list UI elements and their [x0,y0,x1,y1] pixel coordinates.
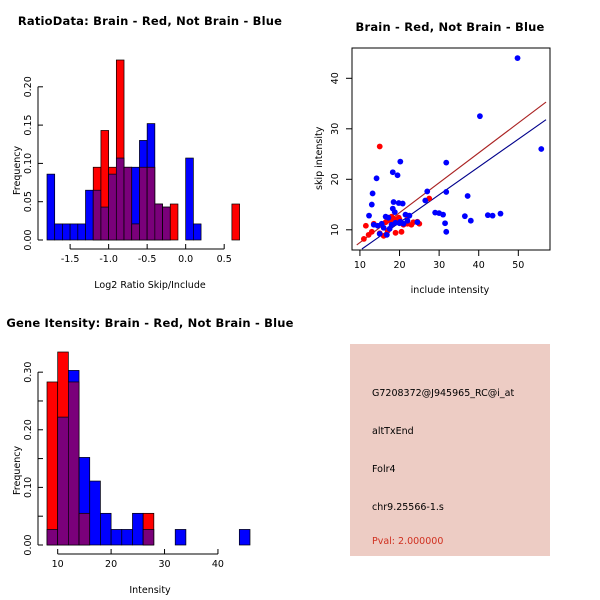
scatter-point [381,225,387,231]
scatter-point [374,175,380,181]
scatter-point [377,144,383,150]
gene-y-tick-label: 0.30 [23,362,34,383]
ratio-bar [78,224,86,240]
gene-x-tick-label: 20 [105,559,117,570]
gene-bar [239,529,250,545]
scatter-point [424,189,430,195]
gene-id-text: G7208372@J945965_RC@i_at [372,388,514,399]
scatter-point [370,191,376,197]
gene-x-tick-label: 40 [212,559,224,570]
locus-text: chr9.25566-1.s [372,502,444,513]
scatter-plot-box [352,48,550,250]
scatter-point [443,229,449,235]
scatter-point [384,232,390,238]
ratio-x-tick-label: 0.5 [217,254,232,265]
scatter-point [442,220,448,226]
scatter-point [386,215,392,221]
scatter-point [422,198,428,204]
gene-x-tick-label: 10 [52,559,64,570]
scatter-point [405,218,411,224]
scatter-y-tick-label: 20 [330,173,341,185]
gene-symbol-text: Folr4 [372,464,396,475]
gene-histogram-xlabel: Intensity [0,585,300,596]
ratio-histogram-canvas: 0.000.050.100.150.20-1.5-1.0-0.50.00.5 [0,0,300,300]
scatter-point [400,201,406,207]
gene-bar [175,529,186,545]
gene-x-tick-label: 30 [158,559,170,570]
ratio-bar [170,204,178,240]
scatter-point [468,218,474,224]
ratio-bar-overlap [109,174,117,240]
scatter-x-tick-label: 20 [393,260,405,271]
scatter-point [407,213,413,219]
ratio-bar [232,204,240,240]
scatter-point [538,146,544,152]
scatter-y-tick-label: 30 [330,123,341,135]
scatter-y-tick-label: 40 [330,72,341,84]
ratio-bar-overlap [155,204,163,240]
scatter-point [392,209,398,215]
gene-y-tick-label: 0.10 [23,477,34,498]
ratio-y-tick-label: 0.05 [23,191,34,212]
ratio-bar-overlap [93,190,101,240]
scatter-canvas: 102030401020304050 [300,0,600,300]
ratio-bar [55,224,63,240]
ratio-bar-overlap [132,224,140,240]
scatter-point [440,212,446,218]
gene-histogram-ylabel: Frequency [12,446,23,495]
gene-bar-overlap [79,513,90,545]
scatter-point [465,193,471,199]
scatter-point [443,160,449,166]
scatter-title: Brain - Red, Not Brain - Blue [300,20,600,34]
ratio-histogram-panel: RatioData: Brain - Red, Not Brain - Blue… [0,0,300,300]
scatter-x-tick-label: 30 [433,260,445,271]
gene-bar [90,481,101,545]
ratio-x-tick-label: 0.0 [178,254,193,265]
ratio-x-tick-label: -1.0 [99,254,118,265]
scatter-point [414,219,420,225]
gene-bar [132,513,143,545]
plot-page: RatioData: Brain - Red, Not Brain - Blue… [0,0,600,600]
scatter-ylabel: skip intensity [314,127,325,190]
scatter-point [366,213,372,219]
scatter-point [498,211,504,217]
ratio-bar [70,224,78,240]
ratio-bar-overlap [139,167,147,240]
ratio-bar-overlap [147,167,155,240]
ratio-histogram-xlabel: Log2 Ratio Skip/Include [0,280,300,291]
ratio-y-tick-label: 0.15 [23,115,34,136]
gene-bar [100,513,111,545]
ratio-bar-overlap [116,158,124,240]
scatter-point [397,219,403,225]
gene-bar-overlap [143,529,154,545]
gene-histogram-title: Gene Itensity: Brain - Red, Not Brain - … [0,316,300,330]
event-type-text: altTxEnd [372,426,414,437]
scatter-xlabel: include intensity [300,285,600,296]
ratio-histogram-ylabel: Frequency [12,146,23,195]
scatter-point [477,113,483,119]
ratio-x-tick-label: -1.5 [61,254,80,265]
gene-bar-overlap [47,529,58,545]
gene-info-box: G7208372@J945965_RC@i_at altTxEnd Folr4 … [350,344,550,556]
ratio-bar [186,158,194,240]
gene-bar-overlap [58,417,69,545]
ratio-bar [86,190,94,240]
scatter-point [462,213,468,219]
gene-histogram-canvas: 0.000.100.200.3010203040 [0,300,300,600]
scatter-point [363,223,369,229]
scatter-x-tick-label: 40 [473,260,485,271]
ratio-bar-overlap [163,207,171,240]
scatter-point [393,230,399,236]
ratio-histogram-title: RatioData: Brain - Red, Not Brain - Blue [0,14,300,28]
scatter-point [397,159,403,165]
scatter-point [361,236,367,242]
ratio-bar [193,224,201,240]
scatter-point [490,213,496,219]
scatter-point [515,55,521,61]
scatter-point [369,229,375,235]
ratio-bar [62,224,70,240]
gene-histogram-panel: Gene Itensity: Brain - Red, Not Brain - … [0,300,300,600]
scatter-point [377,231,383,237]
gene-y-tick-label: 0.20 [23,419,34,440]
scatter-point [391,199,397,205]
ratio-y-tick-label: 0.20 [23,76,34,97]
ratio-bar [47,174,55,240]
scatter-panel: Brain - Red, Not Brain - Blue skip inten… [300,0,600,300]
ratio-bar-overlap [124,167,132,240]
scatter-point [399,229,405,235]
pval-text: Pval: 2.000000 [372,536,443,547]
scatter-x-tick-label: 10 [354,260,366,271]
gene-bar [47,382,58,545]
gene-bar [122,529,133,545]
ratio-x-tick-label: -0.5 [138,254,157,265]
scatter-x-tick-label: 50 [512,260,524,271]
scatter-point [443,189,449,195]
ratio-bar-overlap [101,207,109,240]
ratio-y-tick-label: 0.10 [23,153,34,174]
gene-bar [111,529,122,545]
gene-info-panel: G7208372@J945965_RC@i_at altTxEnd Folr4 … [300,300,600,600]
scatter-y-tick-label: 10 [330,224,341,236]
gene-bar-overlap [68,382,79,545]
scatter-point [369,202,375,208]
ratio-y-tick-label: 0.00 [23,229,34,250]
gene-y-tick-label: 0.00 [23,534,34,555]
scatter-point [395,172,401,178]
